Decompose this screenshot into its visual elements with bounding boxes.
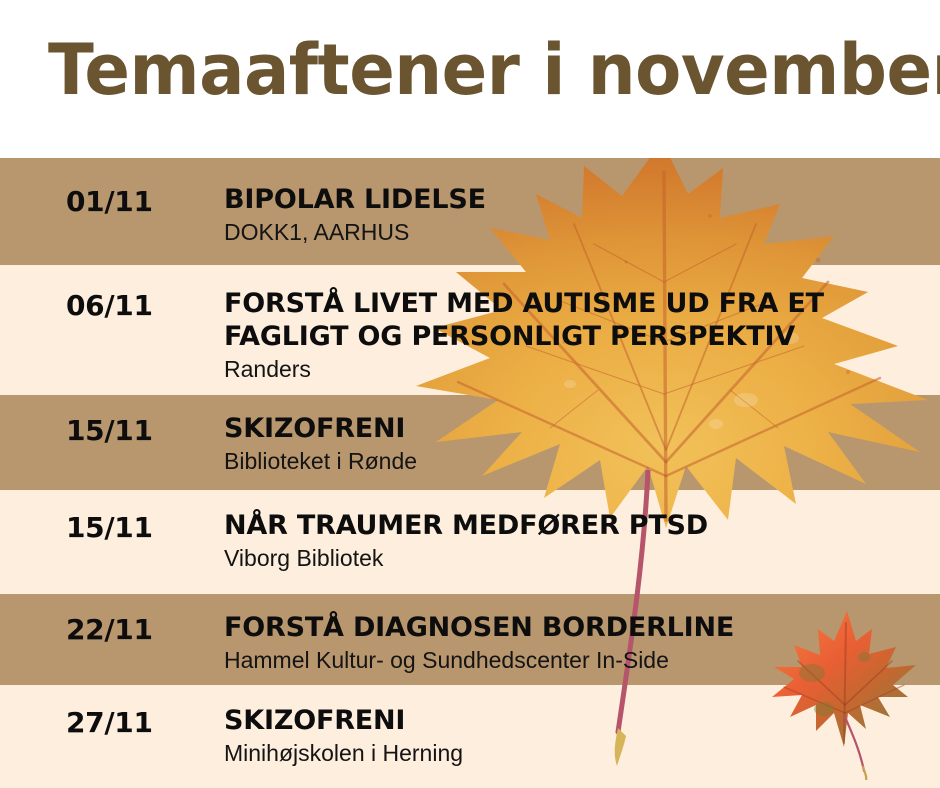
event-title-line2: FAGLIGT OG PERSONLIGT PERSPEKTIV [224,320,924,353]
poster-header: Temaaftener i november [0,0,940,158]
event-info: SKIZOFRENI Biblioteket i Rønde [224,412,924,476]
event-place: Minihøjskolen i Herning [224,739,924,768]
event-date: 15/11 [66,512,153,544]
event-row-6: 27/11 SKIZOFRENI Minihøjskolen i Herning [0,685,940,788]
event-row-4: 15/11 NÅR TRAUMER MEDFØRER PTSD Viborg B… [0,490,940,594]
page-title: Temaaftener i november [48,28,940,112]
event-date: 06/11 [66,290,153,322]
event-date: 27/11 [66,707,153,739]
event-info: NÅR TRAUMER MEDFØRER PTSD Viborg Bibliot… [224,509,924,573]
event-title: SKIZOFRENI [224,704,924,737]
event-title: NÅR TRAUMER MEDFØRER PTSD [224,509,924,542]
event-title: FORSTÅ DIAGNOSEN BORDERLINE [224,611,924,644]
event-date: 22/11 [66,614,153,646]
event-info: BIPOLAR LIDELSE DOKK1, AARHUS [224,183,924,247]
event-row-5: 22/11 FORSTÅ DIAGNOSEN BORDERLINE Hammel… [0,594,940,685]
event-place: Biblioteket i Rønde [224,447,924,476]
event-date: 15/11 [66,415,153,447]
event-poster: Temaaftener i november 01/11 BIPOLAR LID… [0,0,940,788]
event-title: BIPOLAR LIDELSE [224,183,924,216]
event-info: FORSTÅ LIVET MED AUTISME UD FRA ET FAGLI… [224,287,924,384]
event-row-2: 06/11 FORSTÅ LIVET MED AUTISME UD FRA ET… [0,265,940,395]
event-row-1: 01/11 BIPOLAR LIDELSE DOKK1, AARHUS [0,158,940,265]
event-row-3: 15/11 SKIZOFRENI Biblioteket i Rønde [0,395,940,490]
event-place: Viborg Bibliotek [224,544,924,573]
event-title: FORSTÅ LIVET MED AUTISME UD FRA ET [224,287,924,320]
event-date: 01/11 [66,186,153,218]
event-place: Hammel Kultur- og Sundhedscenter In-Side [224,646,924,675]
event-place: DOKK1, AARHUS [224,218,924,247]
event-info: FORSTÅ DIAGNOSEN BORDERLINE Hammel Kultu… [224,611,924,675]
event-info: SKIZOFRENI Minihøjskolen i Herning [224,704,924,768]
event-title: SKIZOFRENI [224,412,924,445]
event-place: Randers [224,355,924,384]
